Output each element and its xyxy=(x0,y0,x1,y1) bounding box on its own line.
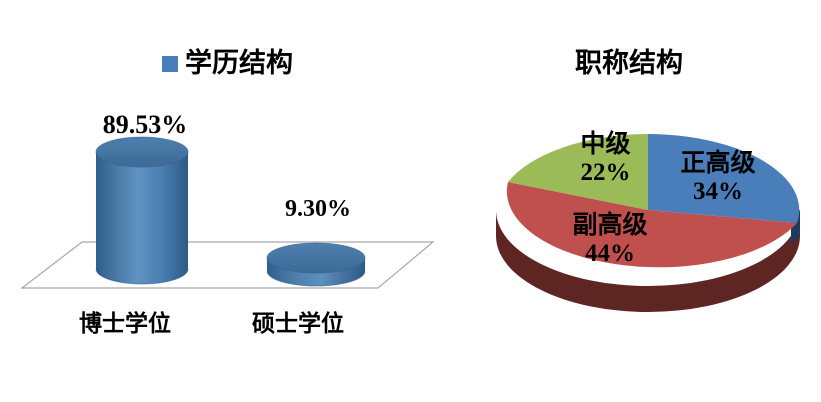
pie-slice-percent: 22% xyxy=(548,158,663,187)
education-structure-chart: 学历结构 xyxy=(0,0,460,402)
bar-category-label: 硕士学位 xyxy=(218,312,378,335)
pie-slice-label-fugaoji: 副高级 44% xyxy=(545,212,675,268)
floor-plane xyxy=(22,242,433,288)
pie-slice-percent: 44% xyxy=(545,239,675,268)
bar-value-label: 9.30% xyxy=(258,197,378,221)
pie-slice-percent: 34% xyxy=(658,177,778,206)
bar-category-label: 博士学位 xyxy=(45,312,205,335)
pie-slice-name: 正高级 xyxy=(658,150,778,177)
pie-slice-name: 中级 xyxy=(548,131,663,158)
bar-cylinder-1 xyxy=(267,243,365,286)
pie-slice-label-zhongji: 中级 22% xyxy=(548,131,663,187)
bar-cylinder-0 xyxy=(96,137,188,284)
title-structure-chart: 职称结构 正高级 34% 副高级 44% 中级 22% xyxy=(460,0,821,402)
bar-chart-plot-area xyxy=(0,0,460,402)
pie-slice-label-zhenggaoji: 正高级 34% xyxy=(658,150,778,206)
pie-slice-name: 副高级 xyxy=(545,212,675,239)
bar-value-label: 89.53% xyxy=(85,112,205,138)
